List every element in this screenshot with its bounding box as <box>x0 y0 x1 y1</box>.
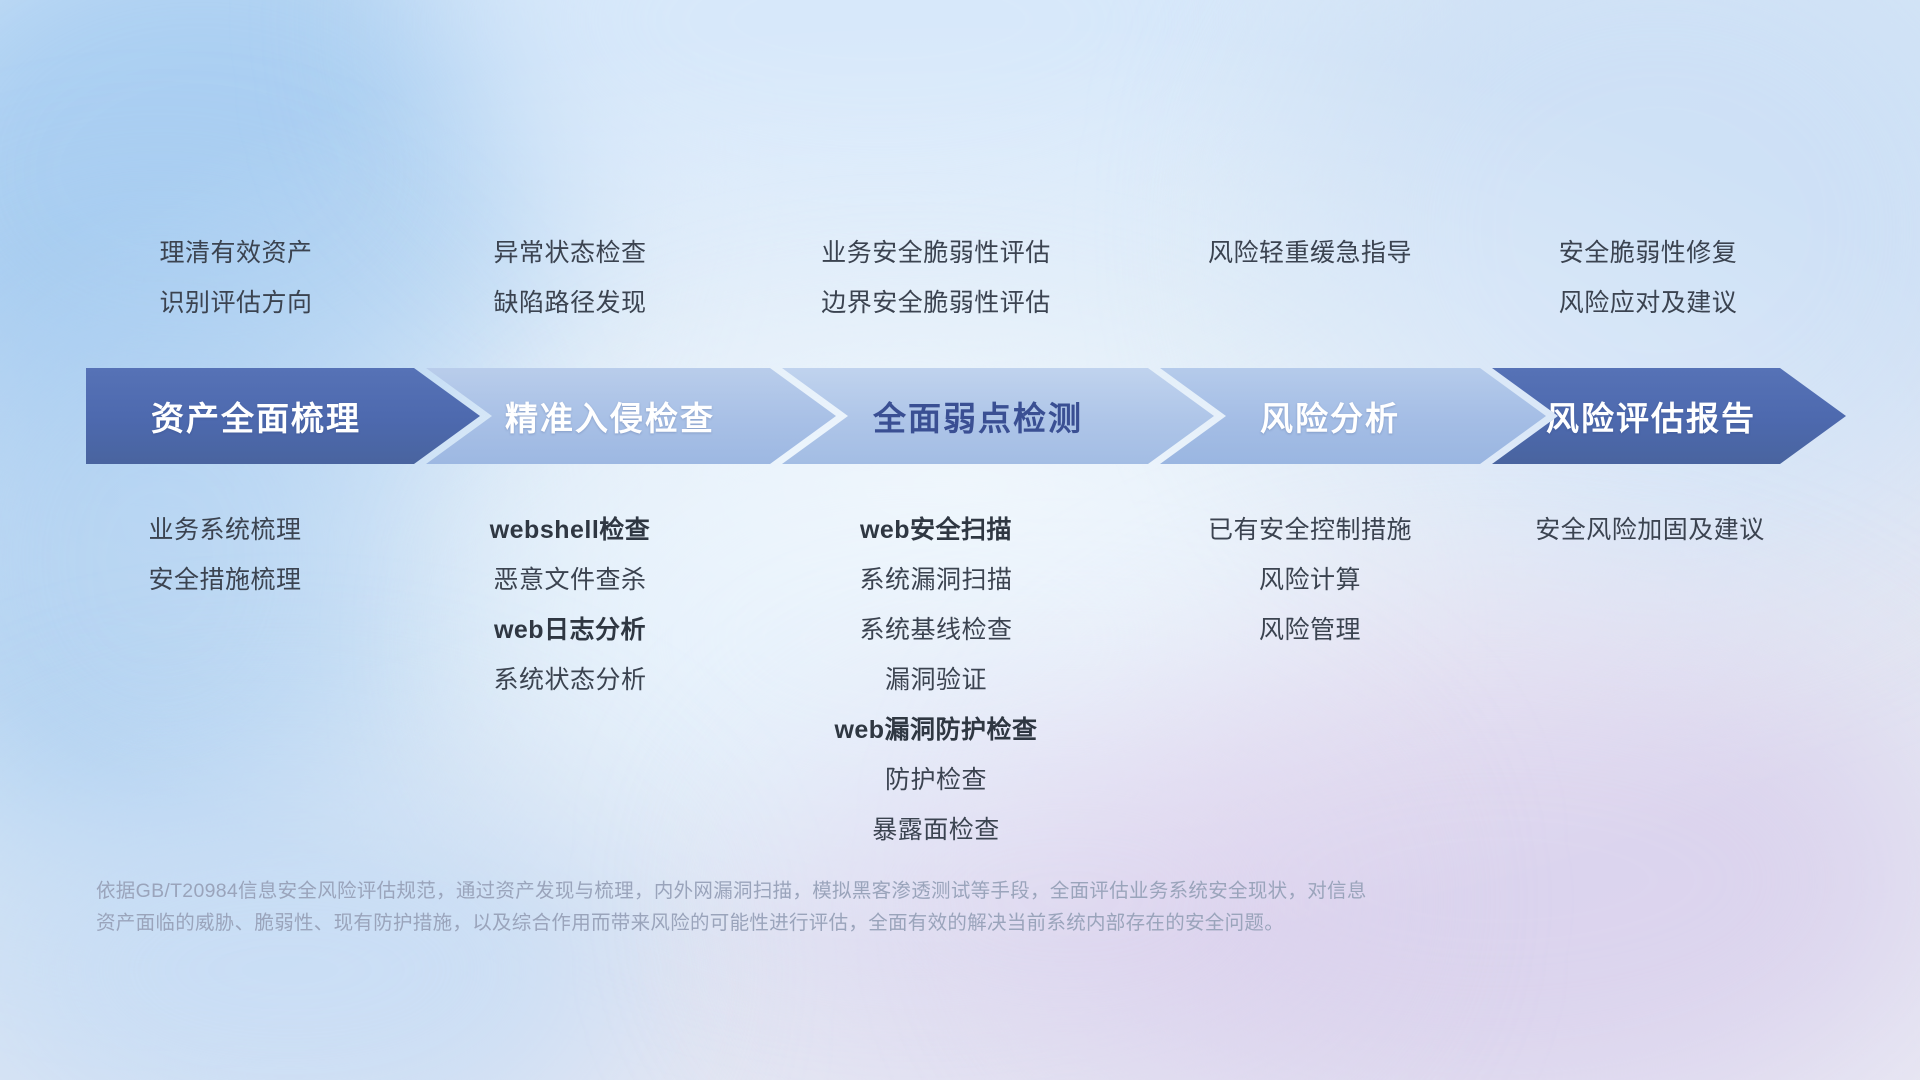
bottom-item: 安全措施梳理 <box>30 555 420 605</box>
bottom-item: 漏洞验证 <box>730 655 1142 705</box>
footer-line-1: 依据GB/T20984信息安全风险评估规范，通过资产发现与梳理，内外网漏洞扫描，… <box>96 875 1596 907</box>
bottom-item: 系统漏洞扫描 <box>730 555 1142 605</box>
bottom-item: 系统状态分析 <box>370 655 770 705</box>
top-item: 异常状态检查 <box>370 228 770 278</box>
bottom-item: 恶意文件查杀 <box>370 555 770 605</box>
top-item: 业务安全脆弱性评估 <box>730 228 1142 278</box>
footer-line-2: 资产面临的威胁、脆弱性、现有防护措施，以及综合作用而带来风险的可能性进行评估，全… <box>96 907 1596 939</box>
bottom-items-asset-inventory: 业务系统梳理 安全措施梳理 <box>30 505 420 605</box>
stage-arrow-asset-inventory[interactable]: 资产全面梳理 <box>86 368 480 464</box>
stage-arrow-weakness-detection[interactable]: 全面弱点检测 <box>782 368 1214 464</box>
stage-arrow-risk-analysis[interactable]: 风险分析 <box>1160 368 1546 464</box>
bottom-items-intrusion-check: webshell检查 恶意文件查杀 web日志分析 系统状态分析 <box>370 505 770 705</box>
stage-arrow-label: 精准入侵检查 <box>505 392 715 440</box>
bottom-items-risk-report: 安全风险加固及建议 <box>1445 505 1855 555</box>
stage-arrow-label: 风险分析 <box>1260 392 1400 440</box>
stage-arrow-label: 风险评估报告 <box>1546 392 1756 440</box>
footer-description: 依据GB/T20984信息安全风险评估规范，通过资产发现与梳理，内外网漏洞扫描，… <box>96 875 1596 939</box>
bottom-item: 风险计算 <box>1110 555 1510 605</box>
bottom-item: 业务系统梳理 <box>30 505 420 555</box>
bottom-items-weakness-detection: web安全扫描 系统漏洞扫描 系统基线检查 漏洞验证 web漏洞防护检查 防护检… <box>730 505 1142 855</box>
bottom-item: webshell检查 <box>370 505 770 555</box>
stage-arrow-intrusion-check[interactable]: 精准入侵检查 <box>426 368 836 464</box>
top-item: 边界安全脆弱性评估 <box>730 278 1142 328</box>
top-item: 风险应对及建议 <box>1448 278 1848 328</box>
top-items-row: 理清有效资产 识别评估方向 异常状态检查 缺陷路径发现 业务安全脆弱性评估 边界… <box>0 228 1920 328</box>
bottom-item: 安全风险加固及建议 <box>1445 505 1855 555</box>
process-diagram: 理清有效资产 识别评估方向 异常状态检查 缺陷路径发现 业务安全脆弱性评估 边界… <box>0 0 1920 1080</box>
bottom-item: web安全扫描 <box>730 505 1142 555</box>
stage-arrow-label: 全面弱点检测 <box>873 392 1083 440</box>
top-item: 安全脆弱性修复 <box>1448 228 1848 278</box>
bottom-item: web漏洞防护检查 <box>730 705 1142 755</box>
bottom-item: 防护检查 <box>730 755 1142 805</box>
stage-arrow-banner: 资产全面梳理 精准入侵检查 全面弱点检测 风险分析 风险评估报告 <box>86 368 1846 464</box>
bottom-item: 暴露面检查 <box>730 805 1142 855</box>
bottom-item: web日志分析 <box>370 605 770 655</box>
top-items-weakness-detection: 业务安全脆弱性评估 边界安全脆弱性评估 <box>730 228 1142 328</box>
top-item: 缺陷路径发现 <box>370 278 770 328</box>
top-items-risk-report: 安全脆弱性修复 风险应对及建议 <box>1448 228 1848 328</box>
bottom-item: 系统基线检查 <box>730 605 1142 655</box>
top-items-intrusion-check: 异常状态检查 缺陷路径发现 <box>370 228 770 328</box>
bottom-item: 风险管理 <box>1110 605 1510 655</box>
stage-arrow-label: 资产全面梳理 <box>151 392 361 440</box>
